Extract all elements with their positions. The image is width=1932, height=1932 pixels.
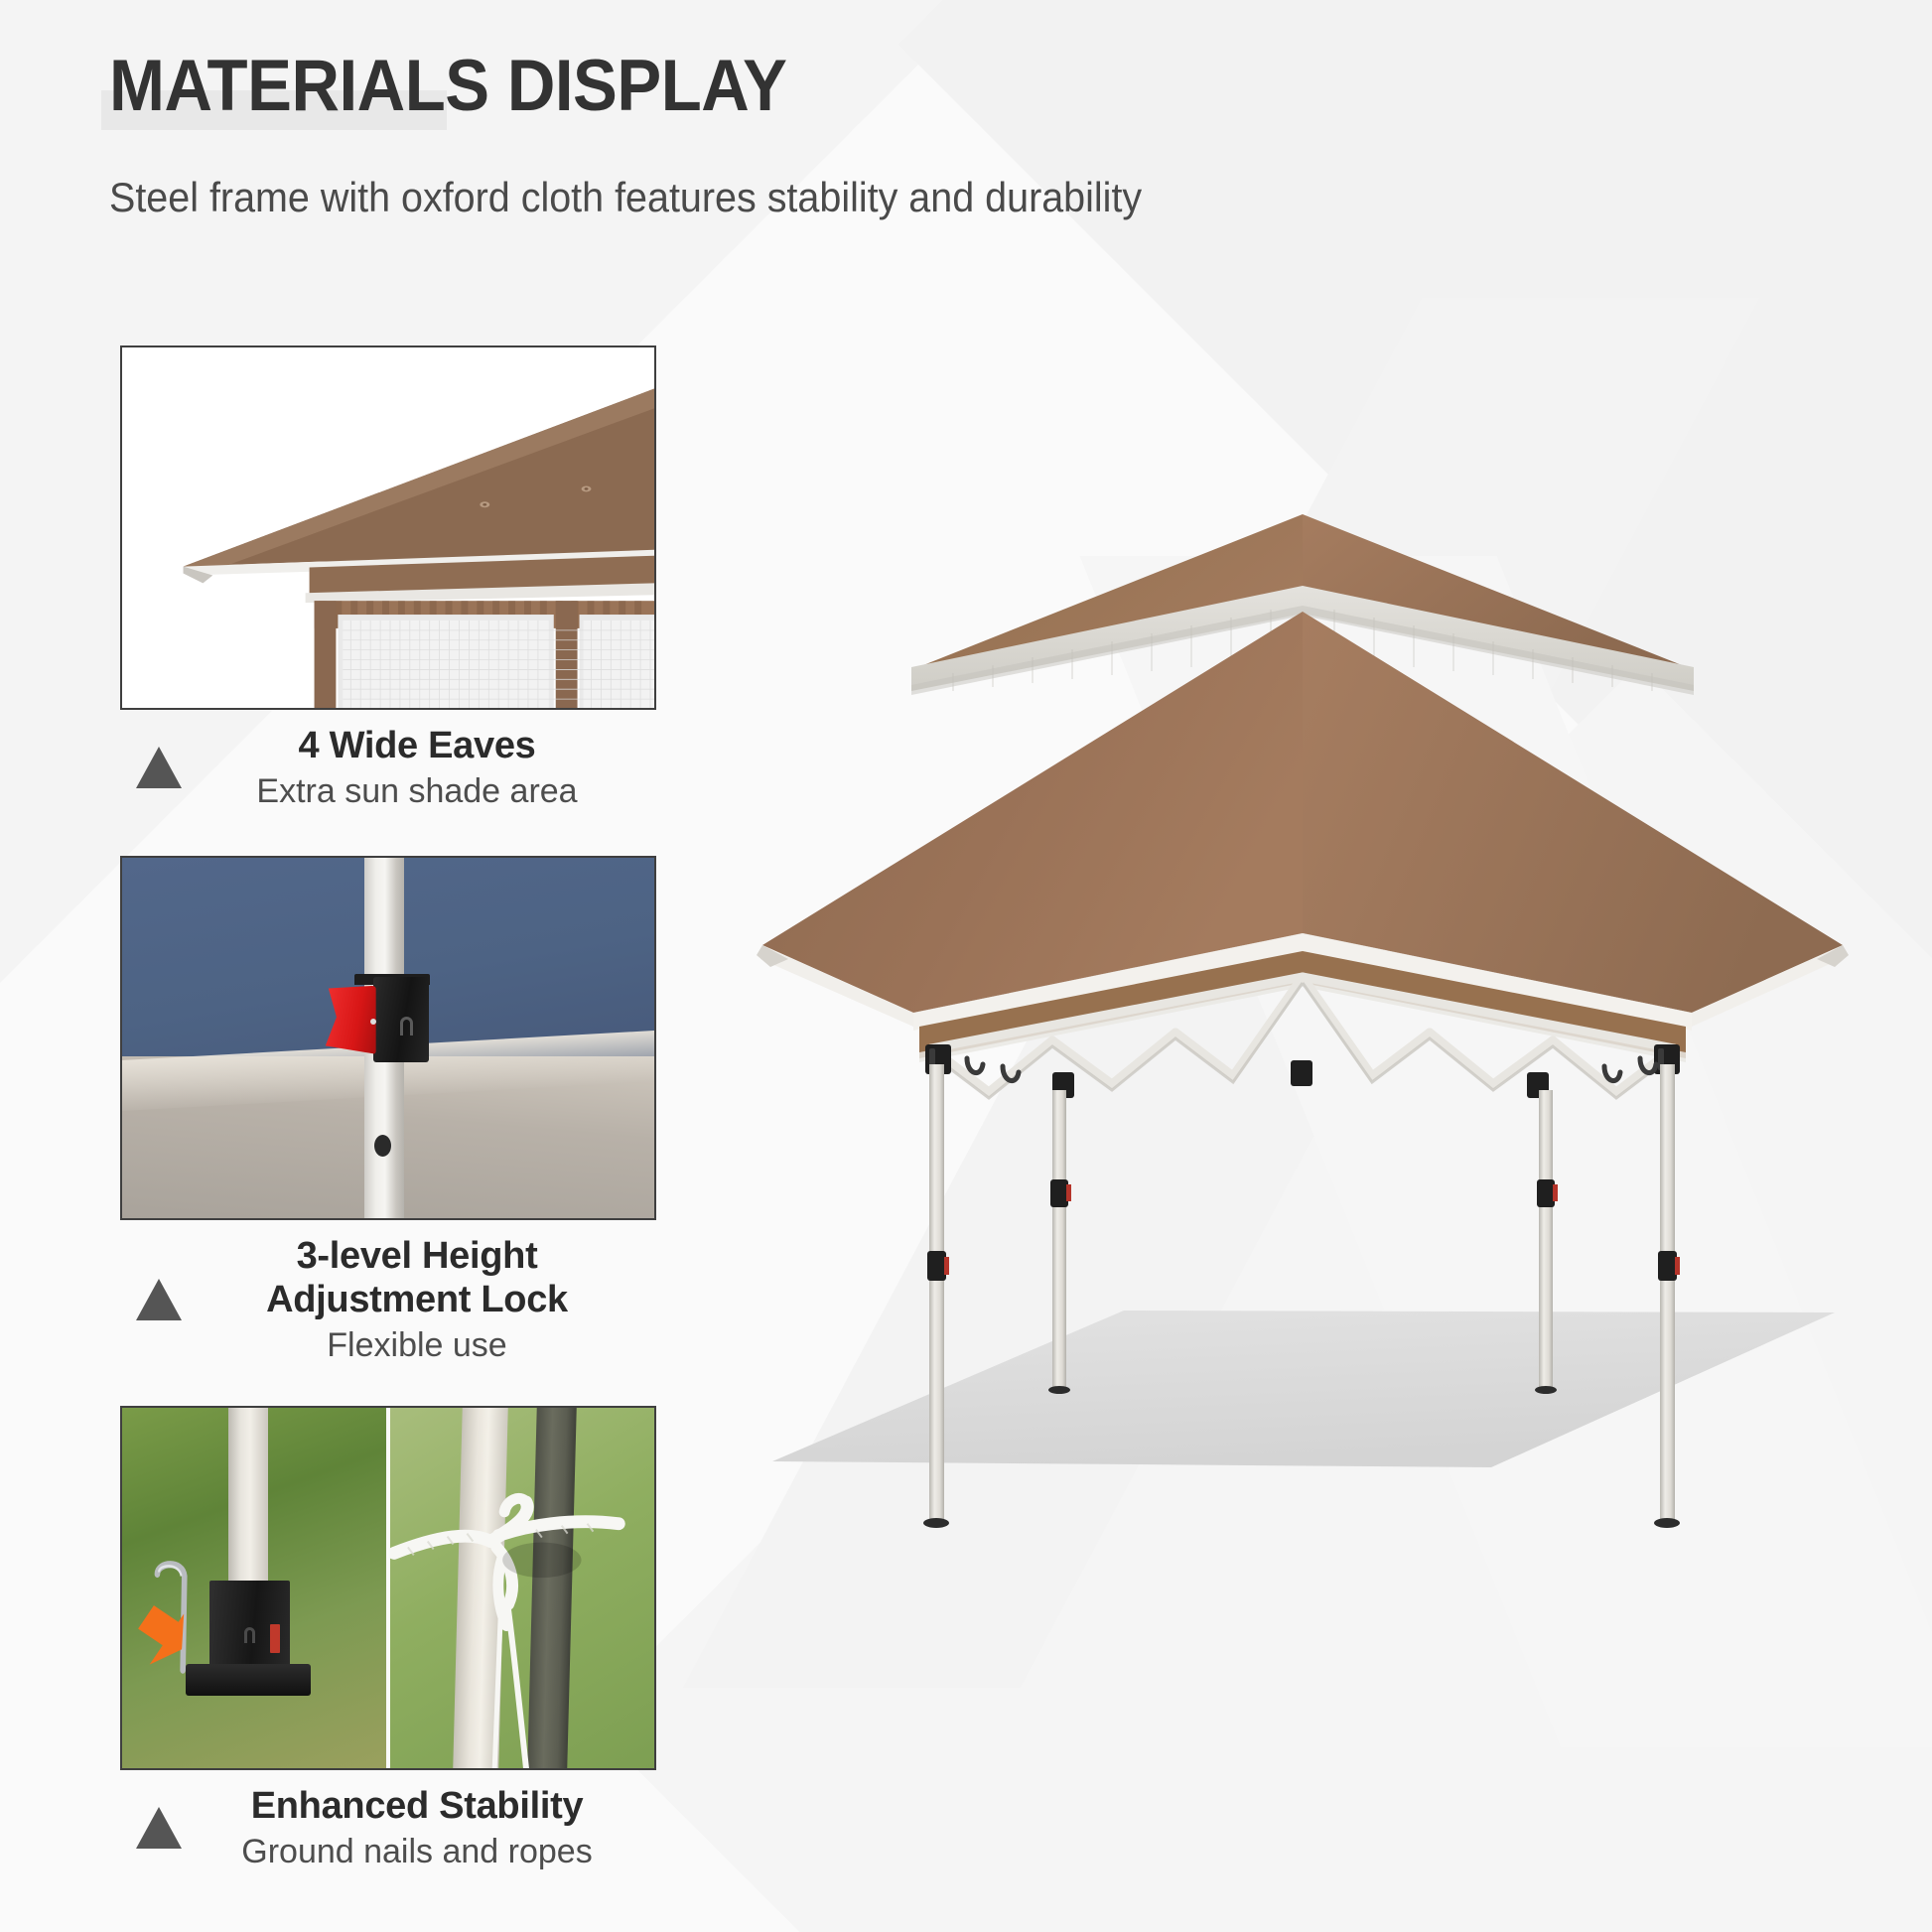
- feature-column: 4 Wide Eaves Extra sun shade area 3-leve…: [120, 345, 656, 1872]
- eaves-photo: [120, 345, 656, 710]
- eaves-caption-title: 4 Wide Eaves: [192, 724, 642, 767]
- eaves-caption-text: 4 Wide Eaves Extra sun shade area: [192, 724, 656, 812]
- materials-display-page: MATERIALS DISPLAY Steel frame with oxfor…: [0, 0, 1932, 1932]
- stability-photo-divider: [386, 1408, 390, 1768]
- pop-up-gazebo-canopy: [755, 496, 1847, 1618]
- leg-lock-clip: [1658, 1251, 1677, 1281]
- leg-lock-clip: [1537, 1179, 1555, 1207]
- stability-caption: Enhanced Stability Ground nails and rope…: [120, 1784, 656, 1872]
- height-lock-photo: [120, 856, 656, 1220]
- red-lever-accent: [270, 1624, 281, 1653]
- page-title: MATERIALS DISPLAY: [109, 50, 787, 122]
- stability-caption-title: Enhanced Stability: [192, 1784, 642, 1828]
- page-subtitle: Steel frame with oxford cloth features s…: [109, 174, 1229, 221]
- eaves-caption-subtitle: Extra sun shade area: [192, 771, 642, 812]
- leg-front-right: [1660, 1064, 1675, 1521]
- stability-caption-subtitle: Ground nails and ropes: [192, 1832, 642, 1872]
- height-lock-caption-title-line1: 3-level Height: [192, 1234, 642, 1278]
- stability-photo-right-pane: [388, 1408, 654, 1768]
- height-lock-caption-subtitle: Flexible use: [192, 1325, 642, 1366]
- eaves-illustration: [122, 347, 654, 708]
- triangle-bullet-icon: [136, 1279, 182, 1320]
- header: MATERIALS DISPLAY Steel frame with oxfor…: [109, 50, 1301, 221]
- spacer-1: [120, 812, 656, 856]
- eaves-caption: 4 Wide Eaves Extra sun shade area: [120, 724, 656, 812]
- page-title-wrap: MATERIALS DISPLAY: [109, 50, 846, 122]
- leg-lock-clip: [1050, 1179, 1068, 1207]
- spacer-2: [120, 1366, 656, 1406]
- height-lock-caption-title-line2: Adjustment Lock: [192, 1278, 642, 1321]
- stability-photo-left-pane: [122, 1408, 388, 1768]
- height-lock-caption: 3-level Height Adjustment Lock Flexible …: [120, 1234, 656, 1366]
- leg-back-left: [1052, 1090, 1066, 1388]
- triangle-bullet-icon: [136, 1807, 182, 1849]
- tie-down-rope-icon: [388, 1408, 654, 1768]
- lock-icon: [400, 1017, 413, 1035]
- leg-front-left: [929, 1064, 944, 1521]
- leg-lock-clip: [927, 1251, 946, 1281]
- height-lock-caption-text: 3-level Height Adjustment Lock Flexible …: [192, 1234, 656, 1366]
- stability-photo: [120, 1406, 656, 1770]
- leg-base-foot-plate: [186, 1664, 311, 1697]
- leg-back-right: [1539, 1090, 1553, 1388]
- lock-icon: [244, 1627, 255, 1643]
- triangle-bullet-icon: [136, 747, 182, 788]
- stability-caption-text: Enhanced Stability Ground nails and rope…: [192, 1784, 656, 1872]
